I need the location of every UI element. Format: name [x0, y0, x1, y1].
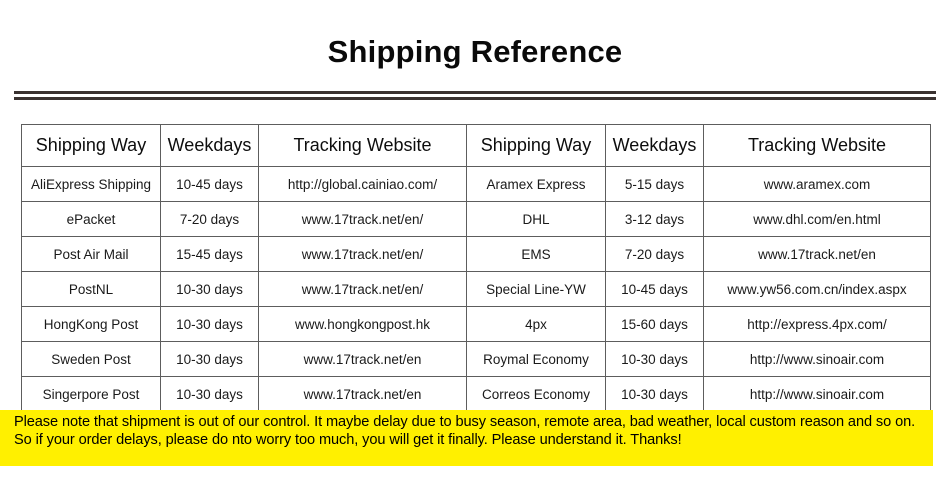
table-row: Sweden Post 10-30 days www.17track.net/e… [22, 342, 931, 377]
cell-weekdays: 7-20 days [161, 202, 259, 237]
cell-weekdays: 10-30 days [161, 342, 259, 377]
cell-weekdays: 15-60 days [606, 307, 704, 342]
cell-shipping-way: Singerpore Post [22, 377, 161, 412]
table-row: PostNL 10-30 days www.17track.net/en/ Sp… [22, 272, 931, 307]
column-header-weekdays-right: Weekdays [606, 125, 704, 167]
cell-tracking-website[interactable]: www.hongkongpost.hk [259, 307, 467, 342]
cell-tracking-website[interactable]: www.17track.net/en [259, 377, 467, 412]
cell-tracking-website[interactable]: http://www.sinoair.com [704, 342, 931, 377]
cell-shipping-way: ePacket [22, 202, 161, 237]
column-header-shipping-way-right: Shipping Way [467, 125, 606, 167]
cell-tracking-website[interactable]: www.yw56.com.cn/index.aspx [704, 272, 931, 307]
cell-tracking-website[interactable]: www.17track.net/en/ [259, 272, 467, 307]
table-row: HongKong Post 10-30 days www.hongkongpos… [22, 307, 931, 342]
cell-weekdays: 3-12 days [606, 202, 704, 237]
cell-shipping-way: AliExpress Shipping [22, 167, 161, 202]
column-header-tracking-website-right: Tracking Website [704, 125, 931, 167]
cell-shipping-way: HongKong Post [22, 307, 161, 342]
cell-shipping-way: Special Line-YW [467, 272, 606, 307]
cell-tracking-website[interactable]: http://www.sinoair.com [704, 377, 931, 412]
cell-tracking-website[interactable]: www.dhl.com/en.html [704, 202, 931, 237]
cell-tracking-website[interactable]: www.17track.net/en/ [259, 202, 467, 237]
table-row: Singerpore Post 10-30 days www.17track.n… [22, 377, 931, 412]
cell-shipping-way: Post Air Mail [22, 237, 161, 272]
cell-shipping-way: Roymal Economy [467, 342, 606, 377]
cell-shipping-way: Sweden Post [22, 342, 161, 377]
cell-weekdays: 10-45 days [606, 272, 704, 307]
page-title: Shipping Reference [0, 34, 950, 70]
shipping-reference-table-container: Shipping Way Weekdays Tracking Website S… [21, 124, 930, 412]
shipping-reference-table: Shipping Way Weekdays Tracking Website S… [21, 124, 931, 412]
table-row: Post Air Mail 15-45 days www.17track.net… [22, 237, 931, 272]
cell-shipping-way: DHL [467, 202, 606, 237]
cell-weekdays: 10-30 days [606, 342, 704, 377]
cell-shipping-way: EMS [467, 237, 606, 272]
column-header-weekdays-left: Weekdays [161, 125, 259, 167]
column-header-shipping-way-left: Shipping Way [22, 125, 161, 167]
cell-tracking-website[interactable]: www.17track.net/en [259, 342, 467, 377]
table-row: AliExpress Shipping 10-45 days http://gl… [22, 167, 931, 202]
divider-line-bottom [14, 97, 936, 100]
cell-weekdays: 15-45 days [161, 237, 259, 272]
table-row: ePacket 7-20 days www.17track.net/en/ DH… [22, 202, 931, 237]
table-header-row: Shipping Way Weekdays Tracking Website S… [22, 125, 931, 167]
cell-tracking-website[interactable]: www.aramex.com [704, 167, 931, 202]
cell-weekdays: 10-30 days [161, 272, 259, 307]
column-header-tracking-website-left: Tracking Website [259, 125, 467, 167]
cell-shipping-way: Correos Economy [467, 377, 606, 412]
shipping-delay-notice: Please note that shipment is out of our … [0, 410, 933, 466]
cell-weekdays: 5-15 days [606, 167, 704, 202]
cell-tracking-website[interactable]: http://express.4px.com/ [704, 307, 931, 342]
cell-weekdays: 10-30 days [606, 377, 704, 412]
cell-tracking-website[interactable]: www.17track.net/en/ [259, 237, 467, 272]
cell-shipping-way: 4px [467, 307, 606, 342]
cell-tracking-website[interactable]: www.17track.net/en [704, 237, 931, 272]
divider-line-top [14, 91, 936, 94]
cell-tracking-website[interactable]: http://global.cainiao.com/ [259, 167, 467, 202]
cell-weekdays: 10-30 days [161, 377, 259, 412]
cell-weekdays: 7-20 days [606, 237, 704, 272]
cell-weekdays: 10-45 days [161, 167, 259, 202]
cell-shipping-way: Aramex Express [467, 167, 606, 202]
cell-shipping-way: PostNL [22, 272, 161, 307]
cell-weekdays: 10-30 days [161, 307, 259, 342]
title-divider [14, 91, 936, 100]
